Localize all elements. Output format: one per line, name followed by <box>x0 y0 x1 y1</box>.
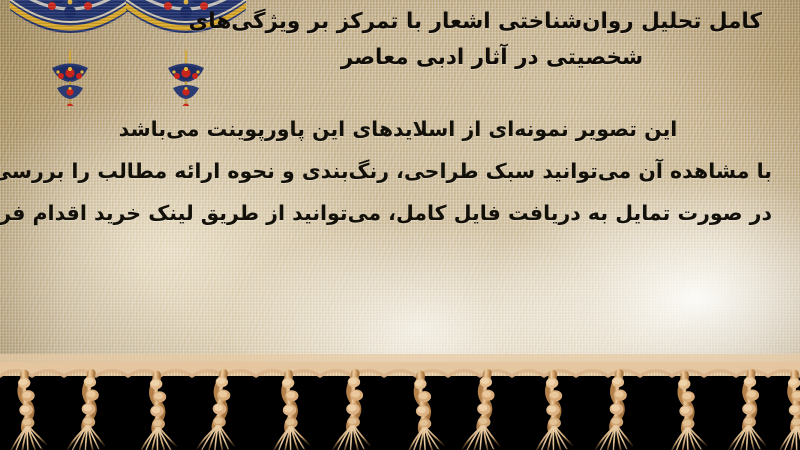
fringe-tassel-group <box>5 371 800 450</box>
slide-title: کامل تحلیل روان‌شناختی اشعار با تمرکز بر… <box>222 4 762 76</box>
slide-body-line-1: این تصویر نمونه‌ای از اسلایدهای این پاور… <box>24 108 772 150</box>
slide-title-line-1: کامل تحلیل روان‌شناختی اشعار با تمرکز بر… <box>222 4 762 40</box>
slide-body: این تصویر نمونه‌ای از اسلایدهای این پاور… <box>24 108 772 234</box>
slide-text-layer: کامل تحلیل روان‌شناختی اشعار با تمرکز بر… <box>0 0 800 378</box>
slide-canvas: کامل تحلیل روان‌شناختی اشعار با تمرکز بر… <box>0 0 800 450</box>
slide-title-line-2: شخصیتی در آثار ادبی معاصر <box>222 40 762 76</box>
slide-body-line-3: در صورت تمایل به دریافت فایل کامل، می‌تو… <box>24 192 772 234</box>
slide-body-line-2: با مشاهده آن می‌توانید سبک طراحی، رنگ‌بن… <box>24 150 772 192</box>
